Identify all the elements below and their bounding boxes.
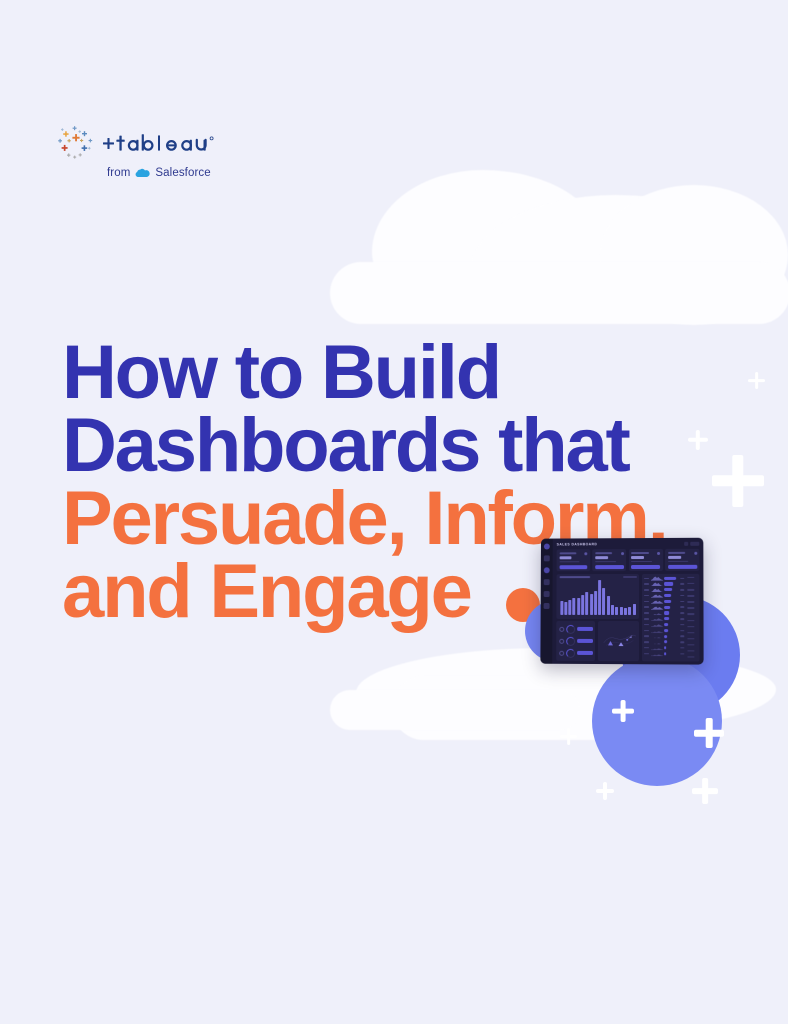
list-item-label bbox=[644, 612, 649, 614]
sidebar-avatar-icon bbox=[544, 544, 550, 550]
axis-tick-label bbox=[687, 638, 694, 639]
bar-chart-header bbox=[559, 576, 637, 578]
list-item-bar bbox=[664, 588, 672, 591]
sidebar-item-5-icon bbox=[544, 603, 550, 609]
axis-tick-label bbox=[687, 577, 694, 578]
kpi-icon bbox=[657, 551, 660, 554]
sparkline-chart bbox=[651, 622, 663, 627]
list-item-value bbox=[680, 601, 684, 603]
list-item bbox=[644, 622, 684, 627]
map-panel bbox=[598, 621, 639, 661]
sparkline-chart bbox=[651, 651, 663, 656]
sparkline-chart bbox=[651, 634, 663, 639]
bar-chart-panel bbox=[556, 574, 639, 619]
dashboard-body bbox=[556, 573, 699, 661]
list-item bbox=[644, 576, 684, 581]
list-item-value bbox=[680, 624, 684, 626]
ranked-list-panel bbox=[642, 573, 700, 661]
sparkline-chart bbox=[651, 611, 663, 616]
list-item-bar bbox=[664, 606, 670, 609]
axis-tick-label bbox=[687, 583, 694, 584]
tagline-prefix: from bbox=[107, 167, 130, 179]
list-item-bar bbox=[664, 611, 669, 614]
header-icon-a bbox=[684, 542, 688, 546]
list-item bbox=[644, 628, 684, 633]
bar-chart-bar bbox=[590, 594, 593, 615]
salesforce-cloud-icon bbox=[134, 168, 151, 179]
sparkline-chart bbox=[651, 628, 663, 633]
list-item-value bbox=[680, 641, 684, 643]
kpi-icon bbox=[585, 552, 588, 555]
sparkline-chart bbox=[651, 593, 663, 598]
kpi-card bbox=[629, 549, 663, 571]
dashboard-lower-row bbox=[556, 621, 639, 661]
bar-chart-bar bbox=[615, 607, 618, 615]
axis-tick-label bbox=[687, 601, 694, 602]
kpi-icon bbox=[621, 552, 624, 555]
list-item-bar bbox=[664, 594, 671, 597]
bar-chart-bar bbox=[633, 604, 636, 615]
dashboard-sidebar bbox=[540, 539, 552, 664]
bar-chart-bar bbox=[573, 598, 576, 615]
list-item-label bbox=[644, 606, 649, 608]
list-item-value bbox=[680, 653, 684, 655]
axis-tick-label bbox=[687, 589, 694, 590]
metric-icon bbox=[559, 626, 564, 631]
list-item-value bbox=[680, 606, 684, 608]
tableau-mark-icon bbox=[55, 123, 97, 163]
ebook-cover-page: from Salesforce How to Build Dashboards … bbox=[0, 0, 788, 1024]
sparkline-chart bbox=[651, 582, 663, 587]
kpi-card-row bbox=[557, 549, 700, 571]
axis-tick-label bbox=[687, 644, 694, 645]
sparkle-sm-lower bbox=[612, 700, 634, 722]
sidebar-item-4-icon bbox=[544, 591, 550, 597]
bar-chart-bar bbox=[564, 602, 567, 615]
kpi-icon bbox=[694, 551, 697, 554]
axis-tick-label bbox=[687, 632, 694, 633]
list-item-label bbox=[644, 618, 649, 620]
bar-chart-bar bbox=[577, 598, 580, 615]
sparkline-chart bbox=[651, 617, 663, 622]
tableau-logo: from Salesforce bbox=[55, 123, 235, 183]
kpi-progress-bar bbox=[668, 564, 697, 568]
bar-chart-bar bbox=[585, 592, 588, 615]
bar-chart-bar bbox=[568, 600, 571, 615]
list-item-label bbox=[644, 601, 649, 603]
list-item bbox=[644, 651, 684, 656]
sparkline-chart bbox=[651, 576, 663, 581]
list-item-bar bbox=[664, 582, 673, 585]
kpi-value bbox=[668, 556, 681, 559]
list-item-label bbox=[644, 589, 649, 591]
axis-tick-label bbox=[687, 656, 694, 657]
list-item-label bbox=[644, 583, 649, 585]
list-item-value bbox=[680, 636, 684, 638]
sparkle-xs-lower bbox=[560, 728, 577, 745]
list-item-value bbox=[680, 647, 684, 649]
list-item-bar bbox=[664, 623, 668, 626]
sparkline-chart bbox=[651, 646, 663, 651]
list-item-label bbox=[644, 653, 649, 655]
sidebar-item-2-icon bbox=[544, 567, 550, 573]
kpi-value bbox=[559, 556, 572, 559]
list-item-value bbox=[680, 589, 684, 591]
bar-chart-bar bbox=[628, 607, 631, 615]
list-item bbox=[644, 640, 684, 645]
metric-icon bbox=[559, 650, 564, 655]
list-item-value bbox=[680, 595, 684, 597]
donut-chart-icon bbox=[566, 636, 575, 645]
kpi-label bbox=[631, 552, 648, 554]
sparkline-chart bbox=[651, 599, 663, 604]
bar-chart-bar bbox=[581, 595, 584, 615]
sparkline-chart bbox=[651, 605, 663, 610]
sidebar-item-1-icon bbox=[544, 555, 550, 561]
list-item bbox=[644, 599, 684, 604]
axis-tick-label bbox=[687, 595, 694, 596]
list-item-label bbox=[644, 577, 649, 579]
sparkle-sm-bottom bbox=[596, 782, 614, 800]
kpi-card bbox=[557, 549, 591, 570]
list-item-bar bbox=[664, 600, 671, 603]
headline-line-1: How to Build bbox=[62, 337, 722, 410]
list-item-label bbox=[644, 624, 649, 626]
kpi-card-header bbox=[595, 552, 624, 555]
list-item-bar bbox=[664, 640, 667, 643]
kpi-value bbox=[631, 556, 644, 559]
kpi-label bbox=[559, 552, 576, 554]
dashboard-right-column bbox=[642, 573, 700, 661]
list-axis bbox=[685, 576, 697, 659]
list-item bbox=[644, 617, 684, 622]
cloud-shape-top-c bbox=[330, 262, 788, 324]
metric-bar bbox=[577, 651, 593, 655]
list-item-bar bbox=[664, 635, 667, 638]
metric-row bbox=[559, 648, 593, 657]
dashboard-main: SALES DASHBOARD bbox=[552, 538, 703, 665]
sparkle-md-bottom bbox=[692, 778, 718, 804]
bar-chart-title bbox=[559, 576, 590, 578]
metric-row bbox=[559, 636, 593, 645]
tagline-brand: Salesforce bbox=[155, 167, 210, 179]
kpi-progress-bar bbox=[595, 565, 624, 569]
list-item-label bbox=[644, 641, 649, 643]
dashboard-left-column bbox=[556, 574, 639, 662]
axis-tick-label bbox=[687, 626, 694, 627]
list-item bbox=[644, 634, 684, 639]
kpi-progress-bar bbox=[631, 564, 660, 568]
metric-bar bbox=[577, 627, 593, 631]
list-item bbox=[644, 646, 684, 651]
sparkline-chart bbox=[651, 640, 663, 645]
list-item-label bbox=[644, 635, 649, 637]
list-item-bar bbox=[664, 617, 669, 620]
list-item-label bbox=[644, 647, 649, 649]
list-item bbox=[644, 582, 684, 587]
bar-chart bbox=[559, 580, 637, 616]
axis-tick-label bbox=[687, 620, 694, 621]
sparkline-chart bbox=[651, 588, 663, 593]
list-item-value bbox=[680, 583, 684, 585]
metric-row bbox=[559, 624, 593, 633]
kpi-card bbox=[593, 549, 627, 571]
dashboard-title: SALES DASHBOARD bbox=[557, 542, 598, 546]
dashboard-header: SALES DASHBOARD bbox=[557, 542, 700, 547]
kpi-card-header bbox=[631, 551, 660, 554]
list-item-value bbox=[680, 577, 684, 579]
sparkle-md-lower bbox=[694, 718, 724, 748]
kpi-label bbox=[595, 552, 612, 554]
kpi-label bbox=[668, 552, 685, 554]
metric-icon bbox=[559, 638, 564, 643]
list-item bbox=[644, 611, 684, 616]
list-item-value bbox=[680, 612, 684, 614]
tableau-wordmark bbox=[103, 130, 235, 156]
list-item-label bbox=[644, 630, 649, 632]
list-item-value bbox=[680, 630, 684, 632]
kpi-subtext bbox=[595, 561, 616, 563]
bar-chart-bar bbox=[611, 605, 614, 615]
bar-chart-legend bbox=[623, 576, 637, 578]
headline-line-2: Dashboards that bbox=[62, 410, 722, 483]
header-button bbox=[690, 542, 699, 546]
kpi-card bbox=[665, 549, 699, 571]
list-item-label bbox=[644, 595, 649, 597]
sparkle-lg-center bbox=[712, 455, 764, 507]
bar-chart-bar bbox=[602, 588, 605, 615]
sales-dashboard-mockup: SALES DASHBOARD bbox=[540, 538, 703, 665]
bar-chart-bar bbox=[620, 607, 623, 615]
sparkle-sm-left bbox=[688, 430, 708, 450]
bar-chart-bar bbox=[624, 608, 627, 615]
list-item bbox=[644, 605, 684, 610]
list-item-value bbox=[680, 618, 684, 620]
dashboard-header-actions bbox=[684, 542, 699, 546]
axis-tick-label bbox=[687, 650, 694, 651]
kpi-progress-bar bbox=[559, 565, 588, 569]
bar-chart-bar bbox=[607, 596, 610, 615]
kpi-card-header bbox=[668, 551, 697, 554]
axis-tick-label bbox=[687, 607, 694, 608]
map-chart-icon bbox=[600, 623, 637, 659]
list-item-bar bbox=[664, 577, 676, 580]
metric-bar bbox=[577, 639, 593, 643]
cloud-shape-bottom-c bbox=[330, 690, 580, 730]
kpi-subtext bbox=[668, 560, 689, 562]
list-item bbox=[644, 588, 684, 593]
bar-chart-bar bbox=[598, 580, 601, 615]
list-item-bar bbox=[664, 652, 666, 655]
metrics-panel bbox=[556, 621, 595, 661]
sidebar-item-3-icon bbox=[544, 579, 550, 585]
kpi-subtext bbox=[559, 561, 580, 563]
salesforce-tagline: from Salesforce bbox=[107, 167, 235, 179]
list-item-bar bbox=[664, 646, 666, 649]
list-item bbox=[644, 593, 684, 598]
kpi-card-header bbox=[559, 552, 588, 555]
kpi-subtext bbox=[631, 560, 652, 562]
bar-chart-bar bbox=[560, 601, 563, 615]
kpi-value bbox=[595, 556, 608, 559]
sparkle-xs-top bbox=[748, 372, 765, 389]
ranked-list bbox=[644, 576, 684, 659]
axis-tick-label bbox=[687, 614, 694, 615]
bar-chart-bar bbox=[594, 591, 597, 615]
donut-chart-icon bbox=[566, 624, 575, 633]
list-item-bar bbox=[664, 629, 668, 632]
donut-chart-icon bbox=[566, 648, 575, 657]
